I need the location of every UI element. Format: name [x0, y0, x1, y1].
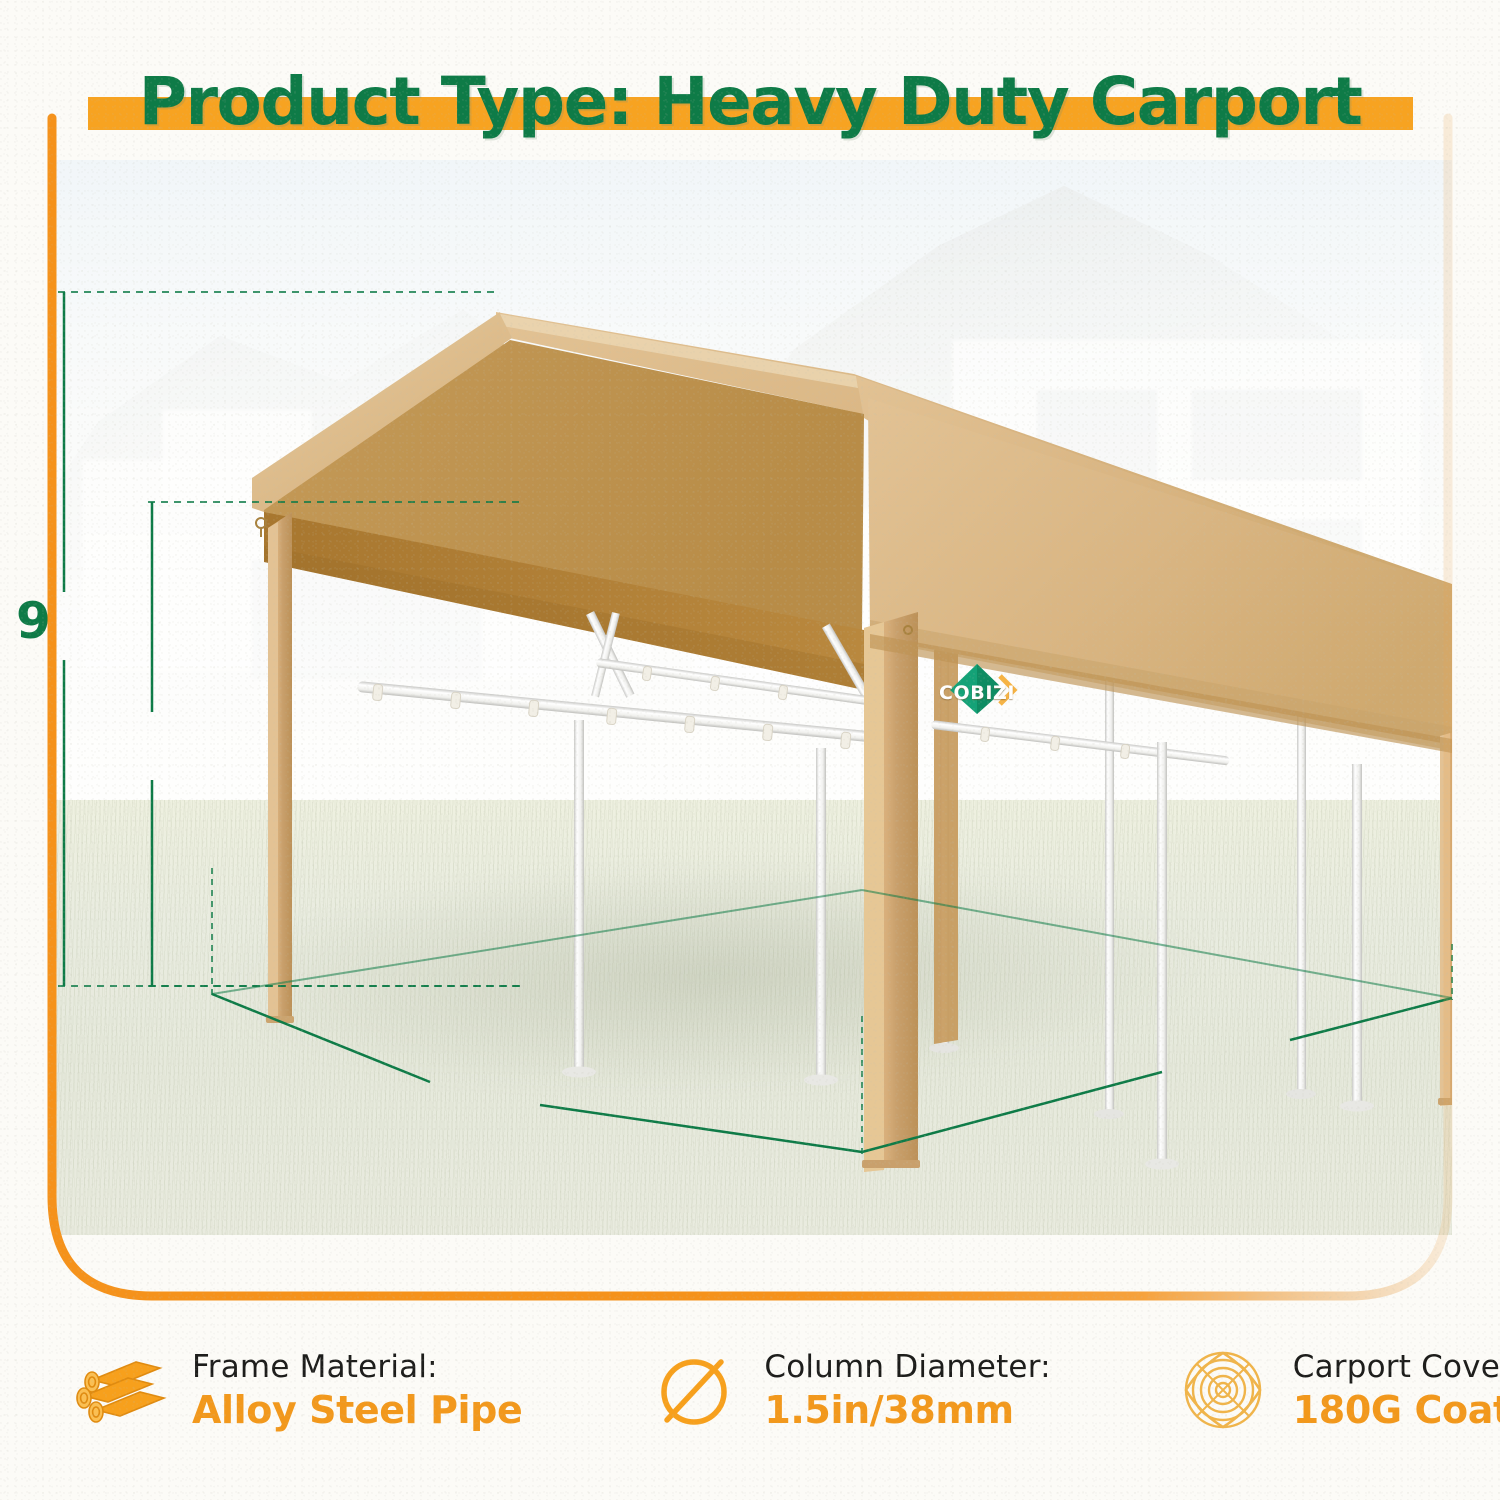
diameter-symbol-icon	[646, 1342, 742, 1438]
brand-logo: COBIZI	[922, 660, 1032, 718]
feature-label: Carport Cover Material:	[1293, 1349, 1500, 1385]
steel-pipes-icon	[74, 1342, 170, 1438]
page-title: Product Type: Heavy Duty Carport	[0, 52, 1500, 152]
feature-bar: Frame Material: Alloy Steel Pipe Column …	[0, 1330, 1500, 1450]
rear-purlin-assembly	[931, 720, 1230, 765]
feature-column-diameter: Column Diameter: 1.5in/38mm	[646, 1330, 1050, 1450]
product-scene: COBIZI	[52, 160, 1452, 1235]
carport-illustration	[52, 160, 1452, 1235]
feature-text-block: Carport Cover Material: 180G Coating PE	[1293, 1349, 1500, 1432]
feature-label: Frame Material:	[192, 1349, 522, 1385]
feature-value: 180G Coating PE	[1293, 1388, 1500, 1432]
feature-cover-material: Carport Cover Material: 180G Coating PE	[1175, 1330, 1500, 1450]
front-left-column	[266, 512, 294, 1023]
front-center-column	[862, 612, 920, 1172]
right-bay-posts	[1145, 742, 1374, 1170]
woven-knot-icon	[1175, 1342, 1271, 1438]
far-right-column	[1438, 730, 1452, 1106]
brand-logo-text: COBIZI	[922, 682, 1032, 704]
feature-label: Column Diameter:	[764, 1349, 1050, 1385]
feature-frame-material: Frame Material: Alloy Steel Pipe	[74, 1330, 522, 1450]
feature-value: Alloy Steel Pipe	[192, 1388, 522, 1432]
feature-value: 1.5in/38mm	[764, 1388, 1050, 1432]
front-support-posts	[562, 720, 838, 1086]
infographic-page: COBIZI	[0, 0, 1500, 1500]
feature-text-block: Column Diameter: 1.5in/38mm	[764, 1349, 1050, 1432]
feature-text-block: Frame Material: Alloy Steel Pipe	[192, 1349, 522, 1432]
page-header: Product Type: Heavy Duty Carport	[0, 52, 1500, 152]
